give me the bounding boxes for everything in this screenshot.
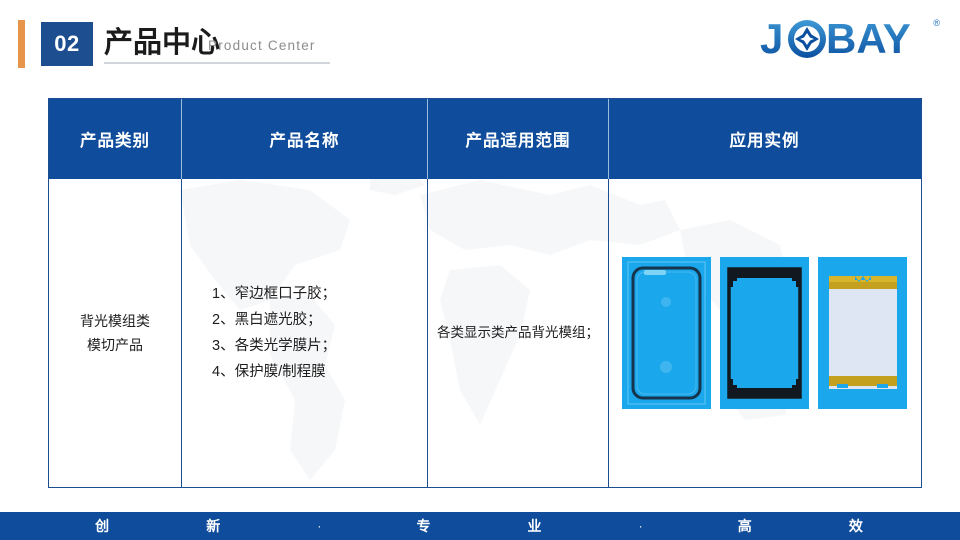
cell-scope: 各类显示类产品背光模组； — [428, 179, 609, 487]
footer-separator-dot: · — [639, 519, 643, 533]
list-item: 3、各类光学膜片； — [212, 333, 336, 359]
category-line-2: 模切产品 — [49, 333, 181, 357]
product-photo-black-shading-tape-frame — [720, 257, 809, 409]
column-header-category: 产品类别 — [49, 99, 182, 179]
column-header-examples: 应用实例 — [609, 99, 920, 179]
footer-slogan-bar: 创 新 · 专 业 · 高 效 — [0, 512, 960, 540]
footer-word: 业 — [528, 516, 544, 536]
footer-word: 新 — [206, 516, 222, 536]
cell-product-names: 1、窄边框口子胶； 2、黑白遮光胶； 3、各类光学膜片； 4、保护膜/制程膜 — [182, 179, 428, 487]
example-photo-group — [609, 257, 920, 409]
logo-emblem — [788, 20, 826, 58]
table-row: 背光模组类 模切产品 1、窄边框口子胶； 2、黑白遮光胶； 3、各类光学膜片； … — [49, 179, 921, 487]
section-number-badge: 02 — [41, 22, 93, 66]
svg-text:BAY: BAY — [826, 17, 911, 61]
product-photo-phone-frame-adhesive — [622, 257, 711, 409]
list-item: 2、黑白遮光胶； — [212, 307, 336, 333]
list-item: 4、保护膜/制程膜 — [212, 359, 336, 385]
footer-word: 专 — [416, 516, 432, 536]
product-photo-optical-film-gold-tape — [818, 257, 907, 409]
column-header-name: 产品名称 — [182, 99, 428, 179]
page-subtitle: Product Center — [208, 38, 316, 53]
page-title: 产品中心 — [104, 22, 220, 64]
section-number-text: 02 — [54, 31, 79, 57]
cell-category: 背光模组类 模切产品 — [49, 179, 182, 487]
scope-text: 各类显示类产品背光模组； — [428, 322, 608, 344]
slide-root: 02 产品中心 Product Center J BAY ® 产品类别 产品名称… — [0, 0, 960, 540]
footer-word: 效 — [849, 516, 865, 536]
header-orange-accent-bar — [18, 20, 25, 68]
column-header-scope: 产品适用范围 — [428, 99, 609, 179]
footer-separator-dot: · — [317, 519, 321, 533]
title-underline — [104, 62, 330, 64]
svg-text:J: J — [760, 17, 783, 61]
table-header-row: 产品类别 产品名称 产品适用范围 应用实例 — [49, 99, 921, 179]
category-text-block: 背光模组类 模切产品 — [49, 309, 181, 357]
jobay-logo: J BAY — [760, 17, 938, 61]
footer-word: 高 — [738, 516, 754, 536]
footer-word: 创 — [95, 516, 111, 536]
product-name-list: 1、窄边框口子胶； 2、黑白遮光胶； 3、各类光学膜片； 4、保护膜/制程膜 — [182, 281, 336, 385]
cell-application-examples — [609, 179, 920, 487]
category-line-1: 背光模组类 — [49, 309, 181, 333]
product-table: 产品类别 产品名称 产品适用范围 应用实例 背光模组类 模切产品 1、窄边框口子… — [48, 98, 922, 488]
list-item: 1、窄边框口子胶； — [212, 281, 336, 307]
registered-trademark-icon: ® — [933, 18, 940, 28]
